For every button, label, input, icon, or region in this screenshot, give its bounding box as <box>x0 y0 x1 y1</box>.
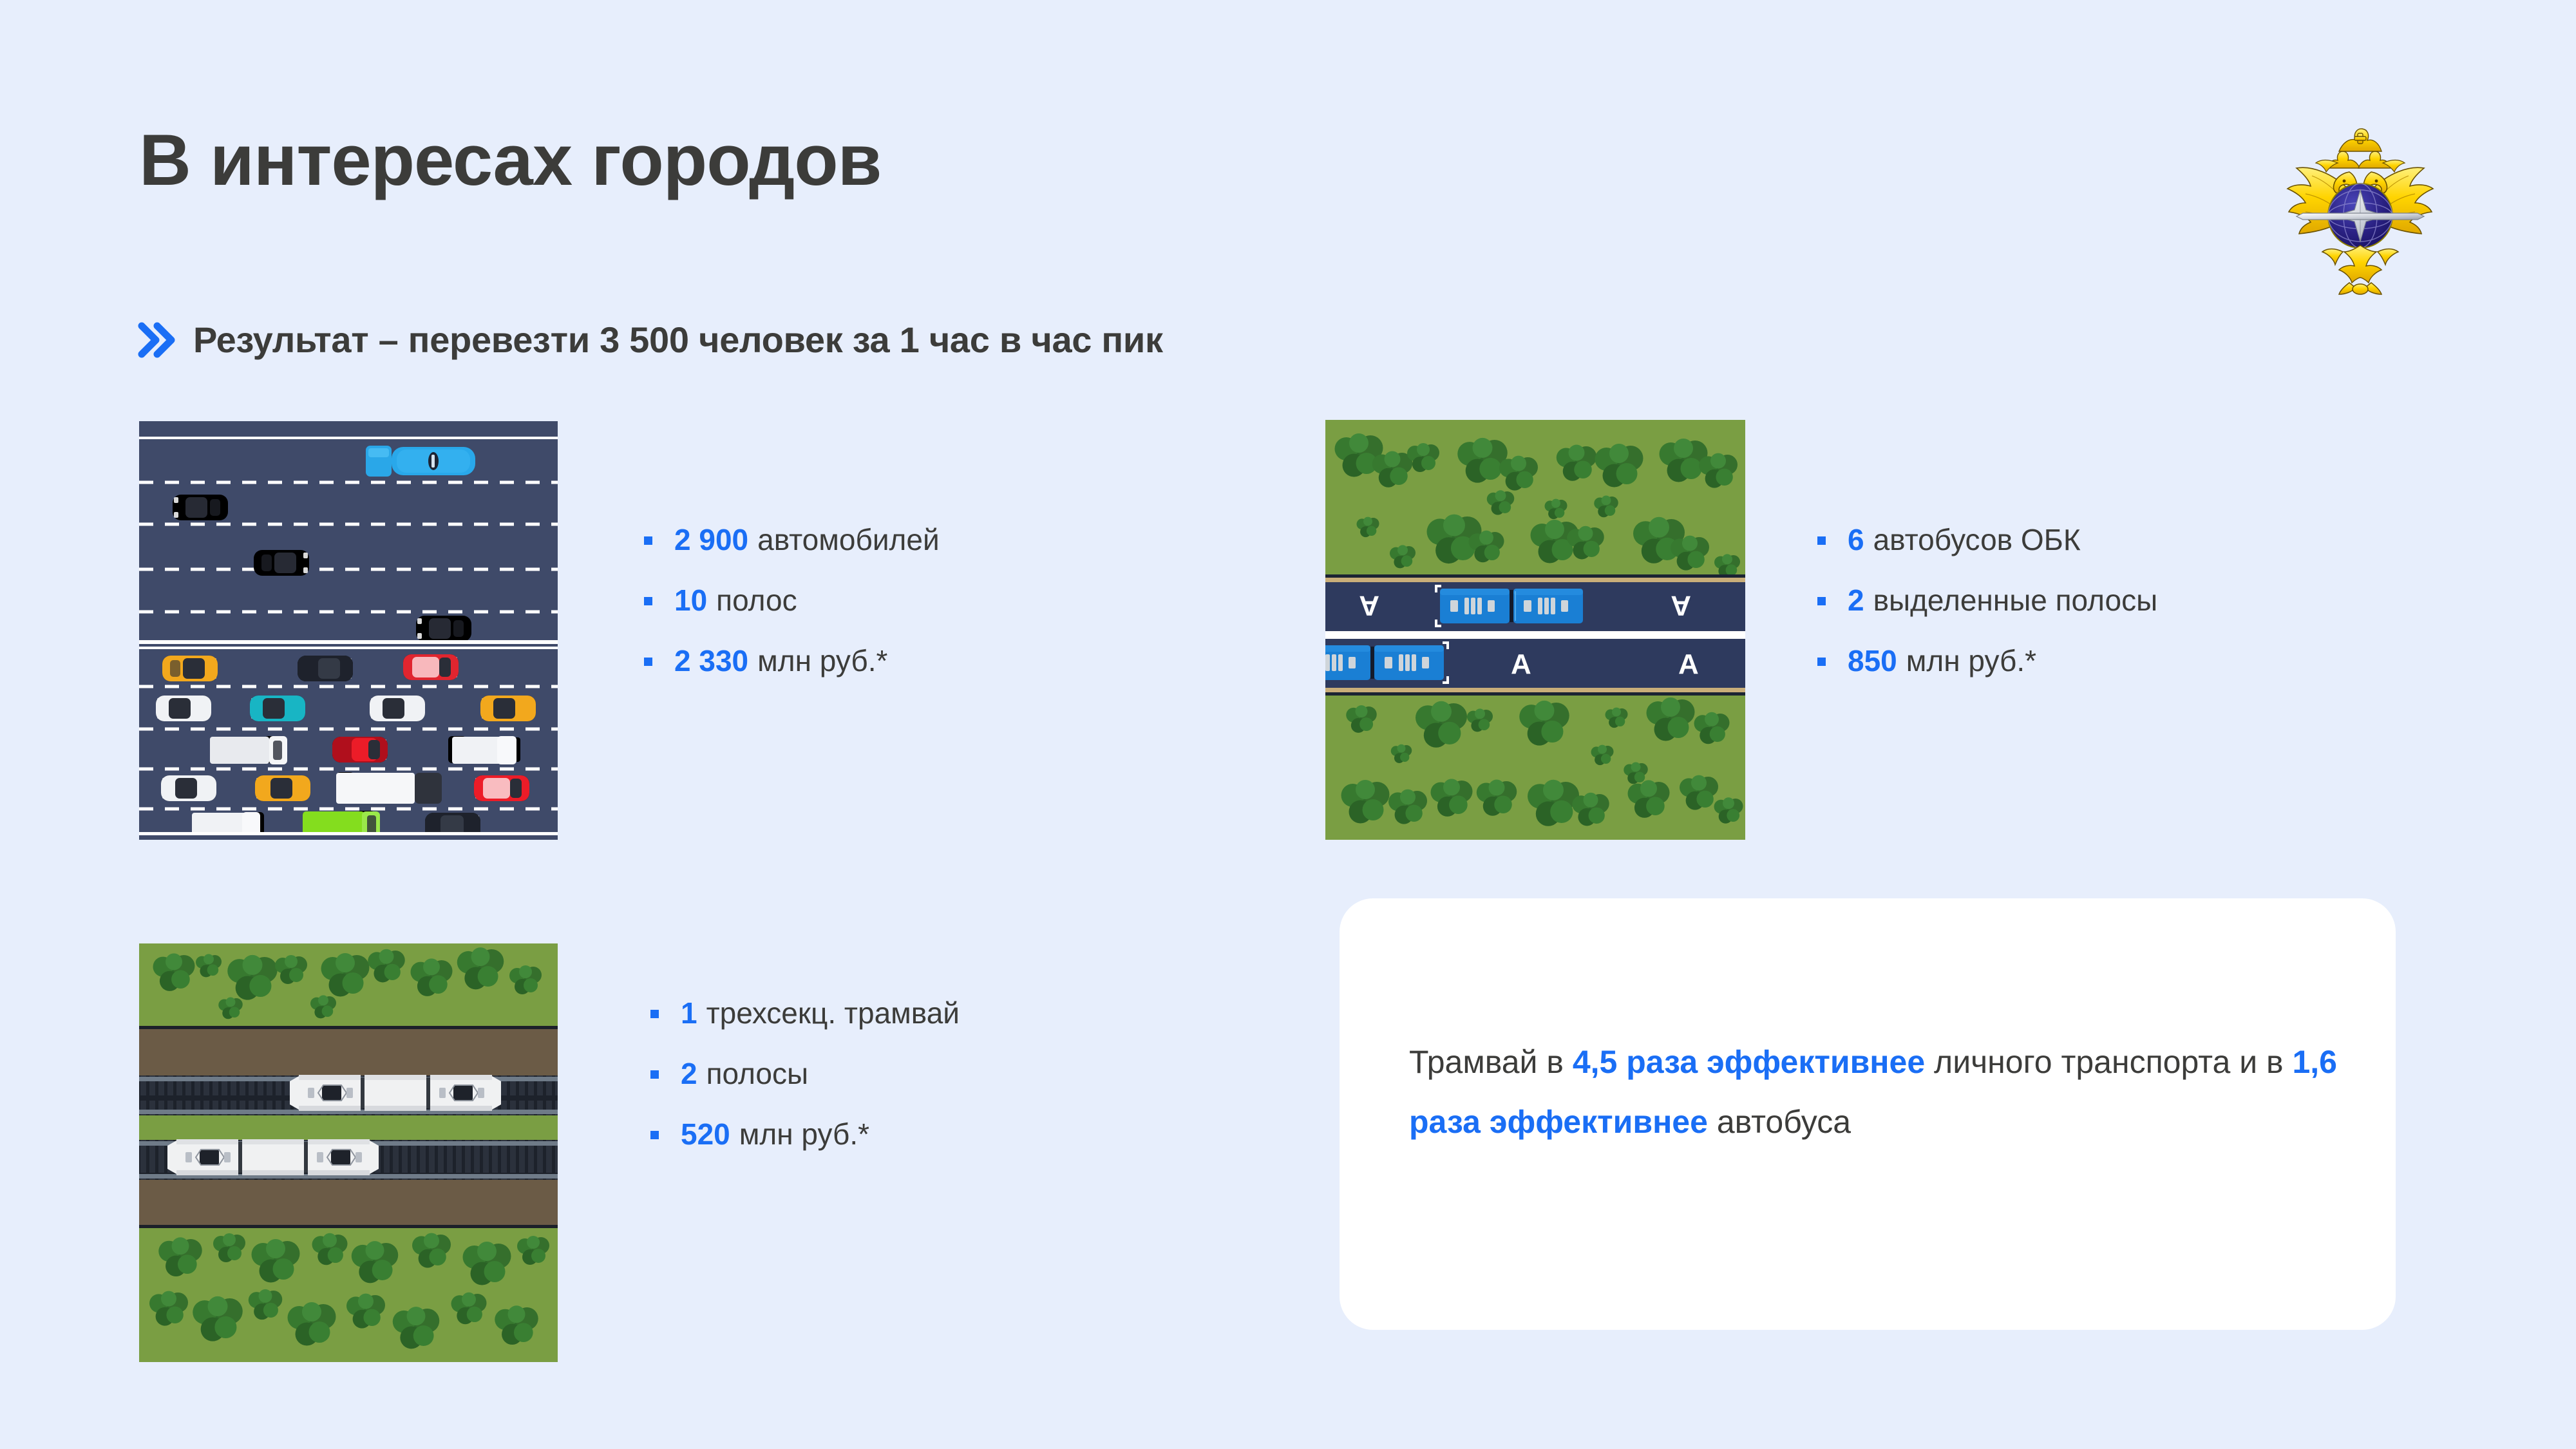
bullet-label: трехсекц. трамвай <box>706 998 960 1028</box>
bullet-square-icon <box>644 658 652 666</box>
bullet-label: млн руб.* <box>757 646 887 676</box>
list-item: 10 полос <box>644 585 940 615</box>
top-down-tram-tracks-illustration: .grass2{fill:#7a9e43}.ballast{fill:#6b5b… <box>139 943 558 1362</box>
bullet-value: 520 <box>681 1119 730 1149</box>
double-chevron-right-icon <box>137 319 176 361</box>
bullet-value: 6 <box>1848 525 1864 554</box>
bullet-square-icon <box>1817 658 1826 666</box>
bullet-square-icon <box>650 1010 659 1018</box>
bullet-square-icon <box>650 1070 659 1079</box>
bullet-list-bus: 6 автобусов ОБК 2 выделенные полосы 850 … <box>1817 525 2157 676</box>
bullet-label: полосы <box>706 1059 808 1088</box>
svg-text:A: A <box>1511 649 1531 680</box>
top-down-highway-traffic-jam-illustration: .road{fill:#3f4a69} .dash{stroke:#ffffff… <box>139 421 558 840</box>
list-item: 6 автобусов ОБК <box>1817 525 2157 554</box>
bullet-square-icon <box>650 1131 659 1139</box>
bullet-value: 2 330 <box>674 646 748 676</box>
list-item: 2 выделенные полосы <box>1817 585 2157 615</box>
subtitle-row: Результат – перевезти 3 500 человек за 1… <box>137 319 1163 361</box>
bullet-label: выделенные полосы <box>1873 585 2158 615</box>
russian-ministry-of-transport-emblem <box>2273 126 2447 299</box>
callout-part3: автобуса <box>1708 1104 1851 1140</box>
bullet-value: 850 <box>1848 646 1897 676</box>
bullet-value: 10 <box>674 585 707 615</box>
bullet-label: полос <box>716 585 797 615</box>
bullet-square-icon <box>644 536 652 545</box>
bullet-list-tram: 1 трехсекц. трамвай 2 полосы 520 млн руб… <box>650 998 960 1149</box>
bullet-label: млн руб.* <box>1906 646 2036 676</box>
svg-text:A: A <box>1678 649 1699 680</box>
svg-text:A: A <box>1359 590 1379 621</box>
list-item: 520 млн руб.* <box>650 1119 960 1149</box>
callout-text: Трамвай в 4,5 раза эффективнее личного т… <box>1409 1032 2349 1151</box>
top-down-dedicated-bus-lanes-illustration: .grass{fill:#7a9e43}.busroad{fill:#2e3a5… <box>1325 420 1745 840</box>
slide-root: В интересах городов Результат – перевезт… <box>0 0 2576 1449</box>
bullet-square-icon <box>644 597 652 605</box>
callout-highlight-tram-vs-car: 4,5 раза эффективнее <box>1573 1044 1925 1080</box>
svg-text:A: A <box>1671 590 1691 621</box>
bullet-square-icon <box>1817 536 1826 545</box>
bullet-list-cars: 2 900 автомобилей 10 полос 2 330 млн руб… <box>644 525 940 676</box>
bullet-value: 1 <box>681 998 697 1028</box>
list-item: 2 полосы <box>650 1059 960 1088</box>
bullet-label: млн руб.* <box>739 1119 869 1149</box>
bullet-square-icon <box>1817 597 1826 605</box>
bullet-value: 2 <box>681 1059 697 1088</box>
list-item: 850 млн руб.* <box>1817 646 2157 676</box>
bullet-value: 2 900 <box>674 525 748 554</box>
list-item: 2 330 млн руб.* <box>644 646 940 676</box>
bullet-value: 2 <box>1848 585 1864 615</box>
page-title: В интересах городов <box>139 122 882 198</box>
bullet-label: автомобилей <box>757 525 940 554</box>
bullet-label: автобусов ОБК <box>1873 525 2081 554</box>
callout-part2: личного транспорта и в <box>1925 1044 2292 1080</box>
callout-card: Трамвай в 4,5 раза эффективнее личного т… <box>1340 898 2396 1330</box>
list-item: 2 900 автомобилей <box>644 525 940 554</box>
list-item: 1 трехсекц. трамвай <box>650 998 960 1028</box>
callout-part1: Трамвай в <box>1409 1044 1573 1080</box>
subtitle-text: Результат – перевезти 3 500 человек за 1… <box>193 319 1163 361</box>
